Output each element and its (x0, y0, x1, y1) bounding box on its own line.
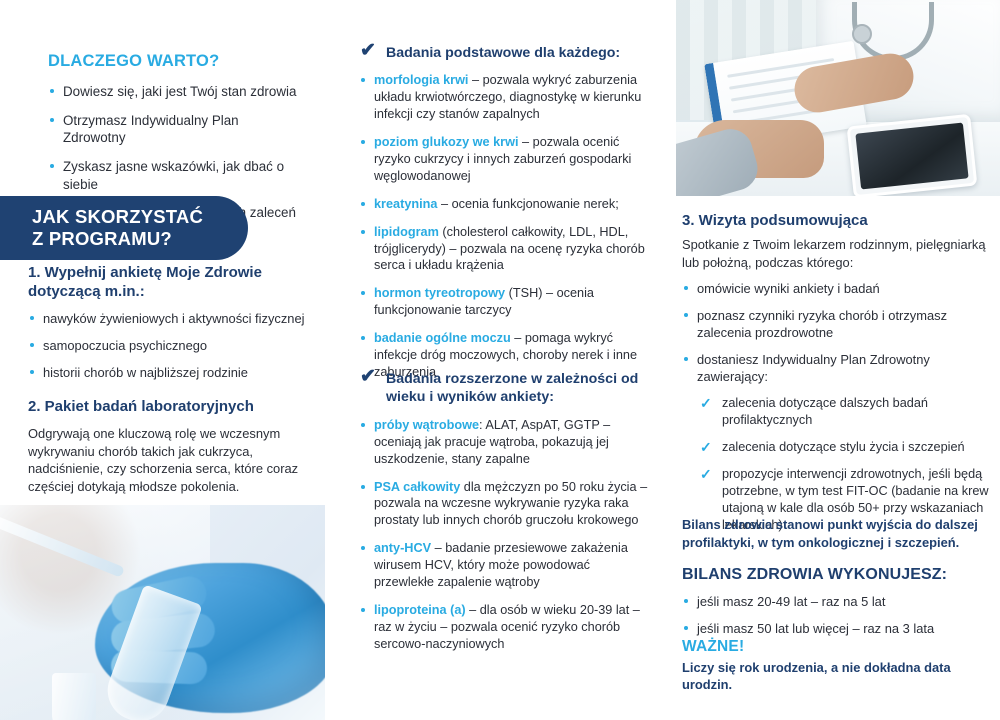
extended-tests-list: próby wątrobowe: ALAT, AspAT, GGTP – oce… (360, 417, 650, 653)
test-term: hormon tyreotropowy (374, 286, 505, 300)
how-to-use-banner: JAK SKORZYSTAĆ Z PROGRAMU? (0, 196, 248, 260)
list-item: Otrzymasz Indywidualny Plan Zdrowotny (48, 112, 300, 147)
tablet-screen (855, 123, 968, 190)
list-item: PSA całkowity dla mężczyzn po 50 roku ży… (360, 479, 650, 530)
extended-tests-section: ✔ Badania rozszerzone w zależności od wi… (360, 370, 650, 664)
list-item: Zyskasz jasne wskazówki, jak dbać o sieb… (48, 158, 300, 193)
item-text: zalecenia dotyczące stylu życia i szczep… (722, 440, 965, 454)
list-item: dostaniesz Indywidualny Plan Zdrowotny z… (682, 351, 992, 385)
right-column: 3. Wizyta podsumowująca Spotkanie z Twoi… (660, 0, 1000, 720)
check-icon: ✓ (700, 438, 712, 457)
step-1-section: 1. Wypełnij ankietę Moje Zdrowie dotyczą… (28, 264, 318, 391)
list-item: ✓zalecenia dotyczące dalszych badań prof… (700, 395, 992, 429)
heading-text: Badania podstawowe dla każdego: (386, 45, 620, 61)
basic-tests-heading: ✔ Badania podstawowe dla każdego: (360, 44, 648, 62)
banner-line-2: Z PROGRAMU? (32, 228, 248, 250)
test-term: badanie ogólne moczu (374, 331, 511, 345)
laboratory-photo (0, 505, 325, 720)
test-term: kreatynina (374, 197, 437, 211)
test-term: lipidogram (374, 225, 439, 239)
bilans-section: BILANS ZDROWIA WYKONUJESZ: jeśli masz 20… (682, 566, 994, 647)
brochure-page: DLACZEGO WARTO? Dowiesz się, jaki jest T… (0, 0, 1000, 720)
list-item: jeśli masz 20-49 lat – raz na 5 lat (682, 593, 994, 610)
visit-list: omówicie wyniki ankiety i badań poznasz … (682, 280, 992, 385)
bilans-title: BILANS ZDROWIA WYKONUJESZ: (682, 566, 994, 584)
bilans-list: jeśli masz 20-49 lat – raz na 5 lat jeśl… (682, 593, 994, 637)
important-title: WAŻNE! (682, 638, 1000, 656)
basic-tests-section: ✔ Badania podstawowe dla każdego: morfol… (360, 44, 648, 392)
list-item: hormon tyreotropowy (TSH) – ocenia funkc… (360, 285, 648, 319)
check-icon: ✓ (700, 394, 712, 413)
test-term: próby wątrobowe (374, 418, 479, 432)
test-term: lipoproteina (a) (374, 603, 466, 617)
visit-title: 3. Wizyta podsumowująca (682, 212, 992, 229)
banner-line-1: JAK SKORZYSTAĆ (32, 206, 248, 228)
test-tube (52, 673, 96, 720)
list-item: poznasz czynniki ryzyka chorób i otrzyma… (682, 307, 992, 341)
list-item: poziom glukozy we krwi – pozwala ocenić … (360, 134, 648, 185)
list-item: próby wątrobowe: ALAT, AspAT, GGTP – oce… (360, 417, 650, 468)
step-2-title: 2. Pakiet badań laboratoryjnych (28, 398, 320, 417)
step-1-list: nawyków żywieniowych i aktywności fizycz… (28, 310, 318, 381)
list-item: ✓zalecenia dotyczące stylu życia i szcze… (700, 439, 992, 456)
visit-intro: Spotkanie z Twoim lekarzem rodzinnym, pi… (682, 236, 992, 271)
why-heading: DLACZEGO WARTO? (48, 52, 300, 71)
list-item: nawyków żywieniowych i aktywności fizycz… (28, 310, 318, 327)
test-term: anty-HCV (374, 541, 431, 555)
list-item: samopoczucia psychicznego (28, 337, 318, 354)
list-item: anty-HCV – badanie przesiewowe zakażenia… (360, 540, 650, 591)
check-icon: ✔ (360, 42, 378, 60)
list-item: Dowiesz się, jaki jest Twój stan zdrowia (48, 83, 300, 101)
middle-column: ✔ Badania podstawowe dla każdego: morfol… (352, 0, 652, 720)
test-term: PSA całkowity (374, 480, 460, 494)
important-text: Liczy się rok urodzenia, a nie dokładna … (682, 659, 1000, 694)
list-item: lipoproteina (a) – dla osób w wieku 20-3… (360, 602, 650, 653)
list-item: kreatynina – ocenia funkcjonowanie nerek… (360, 196, 648, 213)
stethoscope-bell (852, 24, 872, 44)
important-block: WAŻNE! Liczy się rok urodzenia, a nie do… (682, 638, 1000, 694)
list-item: morfologia krwi – pozwala wykryć zaburze… (360, 72, 648, 123)
check-icon: ✔ (360, 368, 378, 386)
summary-note: Bilans zdrowia stanowi punkt wyjścia do … (682, 516, 994, 552)
plan-contents-list: ✓zalecenia dotyczące dalszych badań prof… (700, 395, 992, 533)
basic-tests-list: morfologia krwi – pozwala wykryć zaburze… (360, 72, 648, 380)
test-desc: – ocenia funkcjonowanie nerek; (437, 197, 618, 211)
tablet-device (847, 114, 978, 196)
step-2-section: 2. Pakiet badań laboratoryjnych Odgrywaj… (28, 398, 320, 496)
item-text: zalecenia dotyczące dalszych badań profi… (722, 396, 928, 427)
visit-section: 3. Wizyta podsumowująca Spotkanie z Twoi… (682, 212, 992, 543)
extended-tests-heading: ✔ Badania rozszerzone w zależności od wi… (360, 370, 650, 407)
step-1-title: 1. Wypełnij ankietę Moje Zdrowie dotyczą… (28, 264, 318, 302)
step-2-body: Odgrywają one kluczową rolę we wczesnym … (28, 425, 320, 496)
check-icon: ✓ (700, 465, 712, 484)
list-item: historii chorób w najbliższej rodzinie (28, 364, 318, 381)
list-item: omówicie wyniki ankiety i badań (682, 280, 992, 297)
left-column: DLACZEGO WARTO? Dowiesz się, jaki jest T… (0, 0, 340, 720)
list-item: jeśli masz 50 lat lub więcej – raz na 3 … (682, 620, 994, 637)
test-term: morfologia krwi (374, 73, 468, 87)
list-item: lipidogram (cholesterol całkowity, LDL, … (360, 224, 648, 275)
doctor-consultation-photo (676, 0, 1000, 196)
test-term: poziom glukozy we krwi (374, 135, 519, 149)
heading-text: Badania rozszerzone w zależności od wiek… (386, 371, 638, 405)
